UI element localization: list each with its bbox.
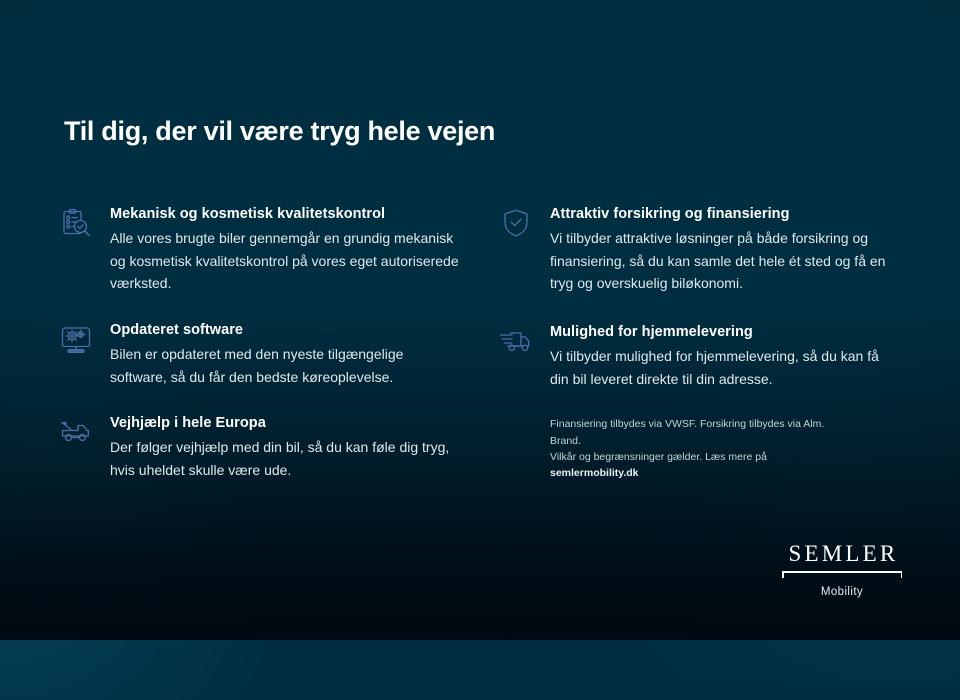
tow-truck-icon — [56, 414, 96, 454]
feature-title: Attraktiv forsikring og finansiering — [550, 206, 900, 222]
disclaimer-line-1: Finansiering tilbydes via VWSF. Forsikri… — [550, 416, 850, 449]
feature-title: Mekanisk og kosmetisk kvalitetskontrol — [110, 206, 460, 222]
features-column-left: Mekanisk og kosmetisk kvalitetskontrol A… — [56, 205, 472, 508]
feature-description: Der følger vejhjælp med din bil, så du k… — [110, 436, 460, 481]
feature-description: Bilen er opdateret med den nyeste tilgæn… — [110, 343, 460, 388]
feature-text-block: Attraktiv forsikring og finansiering Vi … — [550, 205, 900, 295]
delivery-truck-icon — [496, 323, 536, 363]
feature-description: Alle vores brugte biler gennemgår en gru… — [110, 227, 460, 295]
feature-description: Vi tilbyder attraktive løsninger på både… — [550, 227, 900, 295]
feature-text-block: Opdateret software Bilen er opdateret me… — [110, 321, 460, 388]
disclaimer-text: Finansiering tilbydes via VWSF. Forsikri… — [550, 416, 850, 481]
features-column-right: Attraktiv forsikring og finansiering Vi … — [496, 205, 912, 508]
feature-title: Opdateret software — [110, 322, 460, 338]
feature-item-home-delivery: Mulighed for hjemmelevering Vi tilbyder … — [496, 323, 912, 390]
logo-wordmark: SEMLER — [782, 542, 902, 565]
disclaimer-line-2-prefix: Vilkår og begrænsninger gælder. Læs mere… — [550, 451, 767, 463]
features-grid: Mekanisk og kosmetisk kvalitetskontrol A… — [56, 205, 912, 508]
semler-mobility-logo: SEMLER Mobility — [782, 542, 902, 598]
logo-bracket-rule — [782, 571, 902, 579]
feature-item-quality-control: Mekanisk og kosmetisk kvalitetskontrol A… — [56, 205, 472, 295]
feature-text-block: Mekanisk og kosmetisk kvalitetskontrol A… — [110, 205, 460, 295]
feature-title: Mulighed for hjemmelevering — [550, 324, 900, 340]
logo-bracket-tick-left — [782, 571, 784, 578]
logo-subtitle: Mobility — [782, 586, 902, 598]
feature-item-updated-software: Opdateret software Bilen er opdateret me… — [56, 321, 472, 388]
promo-page: Til dig, der vil være tryg hele vejen — [0, 0, 960, 640]
feature-description: Vi tilbyder mulighed for hjemmelevering,… — [550, 345, 900, 390]
monitor-gears-icon — [56, 321, 96, 361]
disclaimer-website-link[interactable]: semlermobility.dk — [550, 467, 639, 479]
logo-bracket-tick-right — [901, 571, 903, 578]
shield-check-icon — [496, 205, 536, 245]
page-title: Til dig, der vil være tryg hele vejen — [64, 116, 495, 147]
feature-text-block: Mulighed for hjemmelevering Vi tilbyder … — [550, 323, 900, 390]
feature-title: Vejhjælp i hele Europa — [110, 415, 460, 431]
disclaimer-line-2: Vilkår og begrænsninger gælder. Læs mere… — [550, 449, 850, 482]
feature-item-roadside-assistance: Vejhjælp i hele Europa Der følger vejhjæ… — [56, 414, 472, 481]
feature-text-block: Vejhjælp i hele Europa Der følger vejhjæ… — [110, 414, 460, 481]
feature-item-insurance-financing: Attraktiv forsikring og finansiering Vi … — [496, 205, 912, 295]
logo-bracket-bar — [782, 571, 902, 573]
clipboard-magnifier-check-icon — [56, 205, 96, 245]
